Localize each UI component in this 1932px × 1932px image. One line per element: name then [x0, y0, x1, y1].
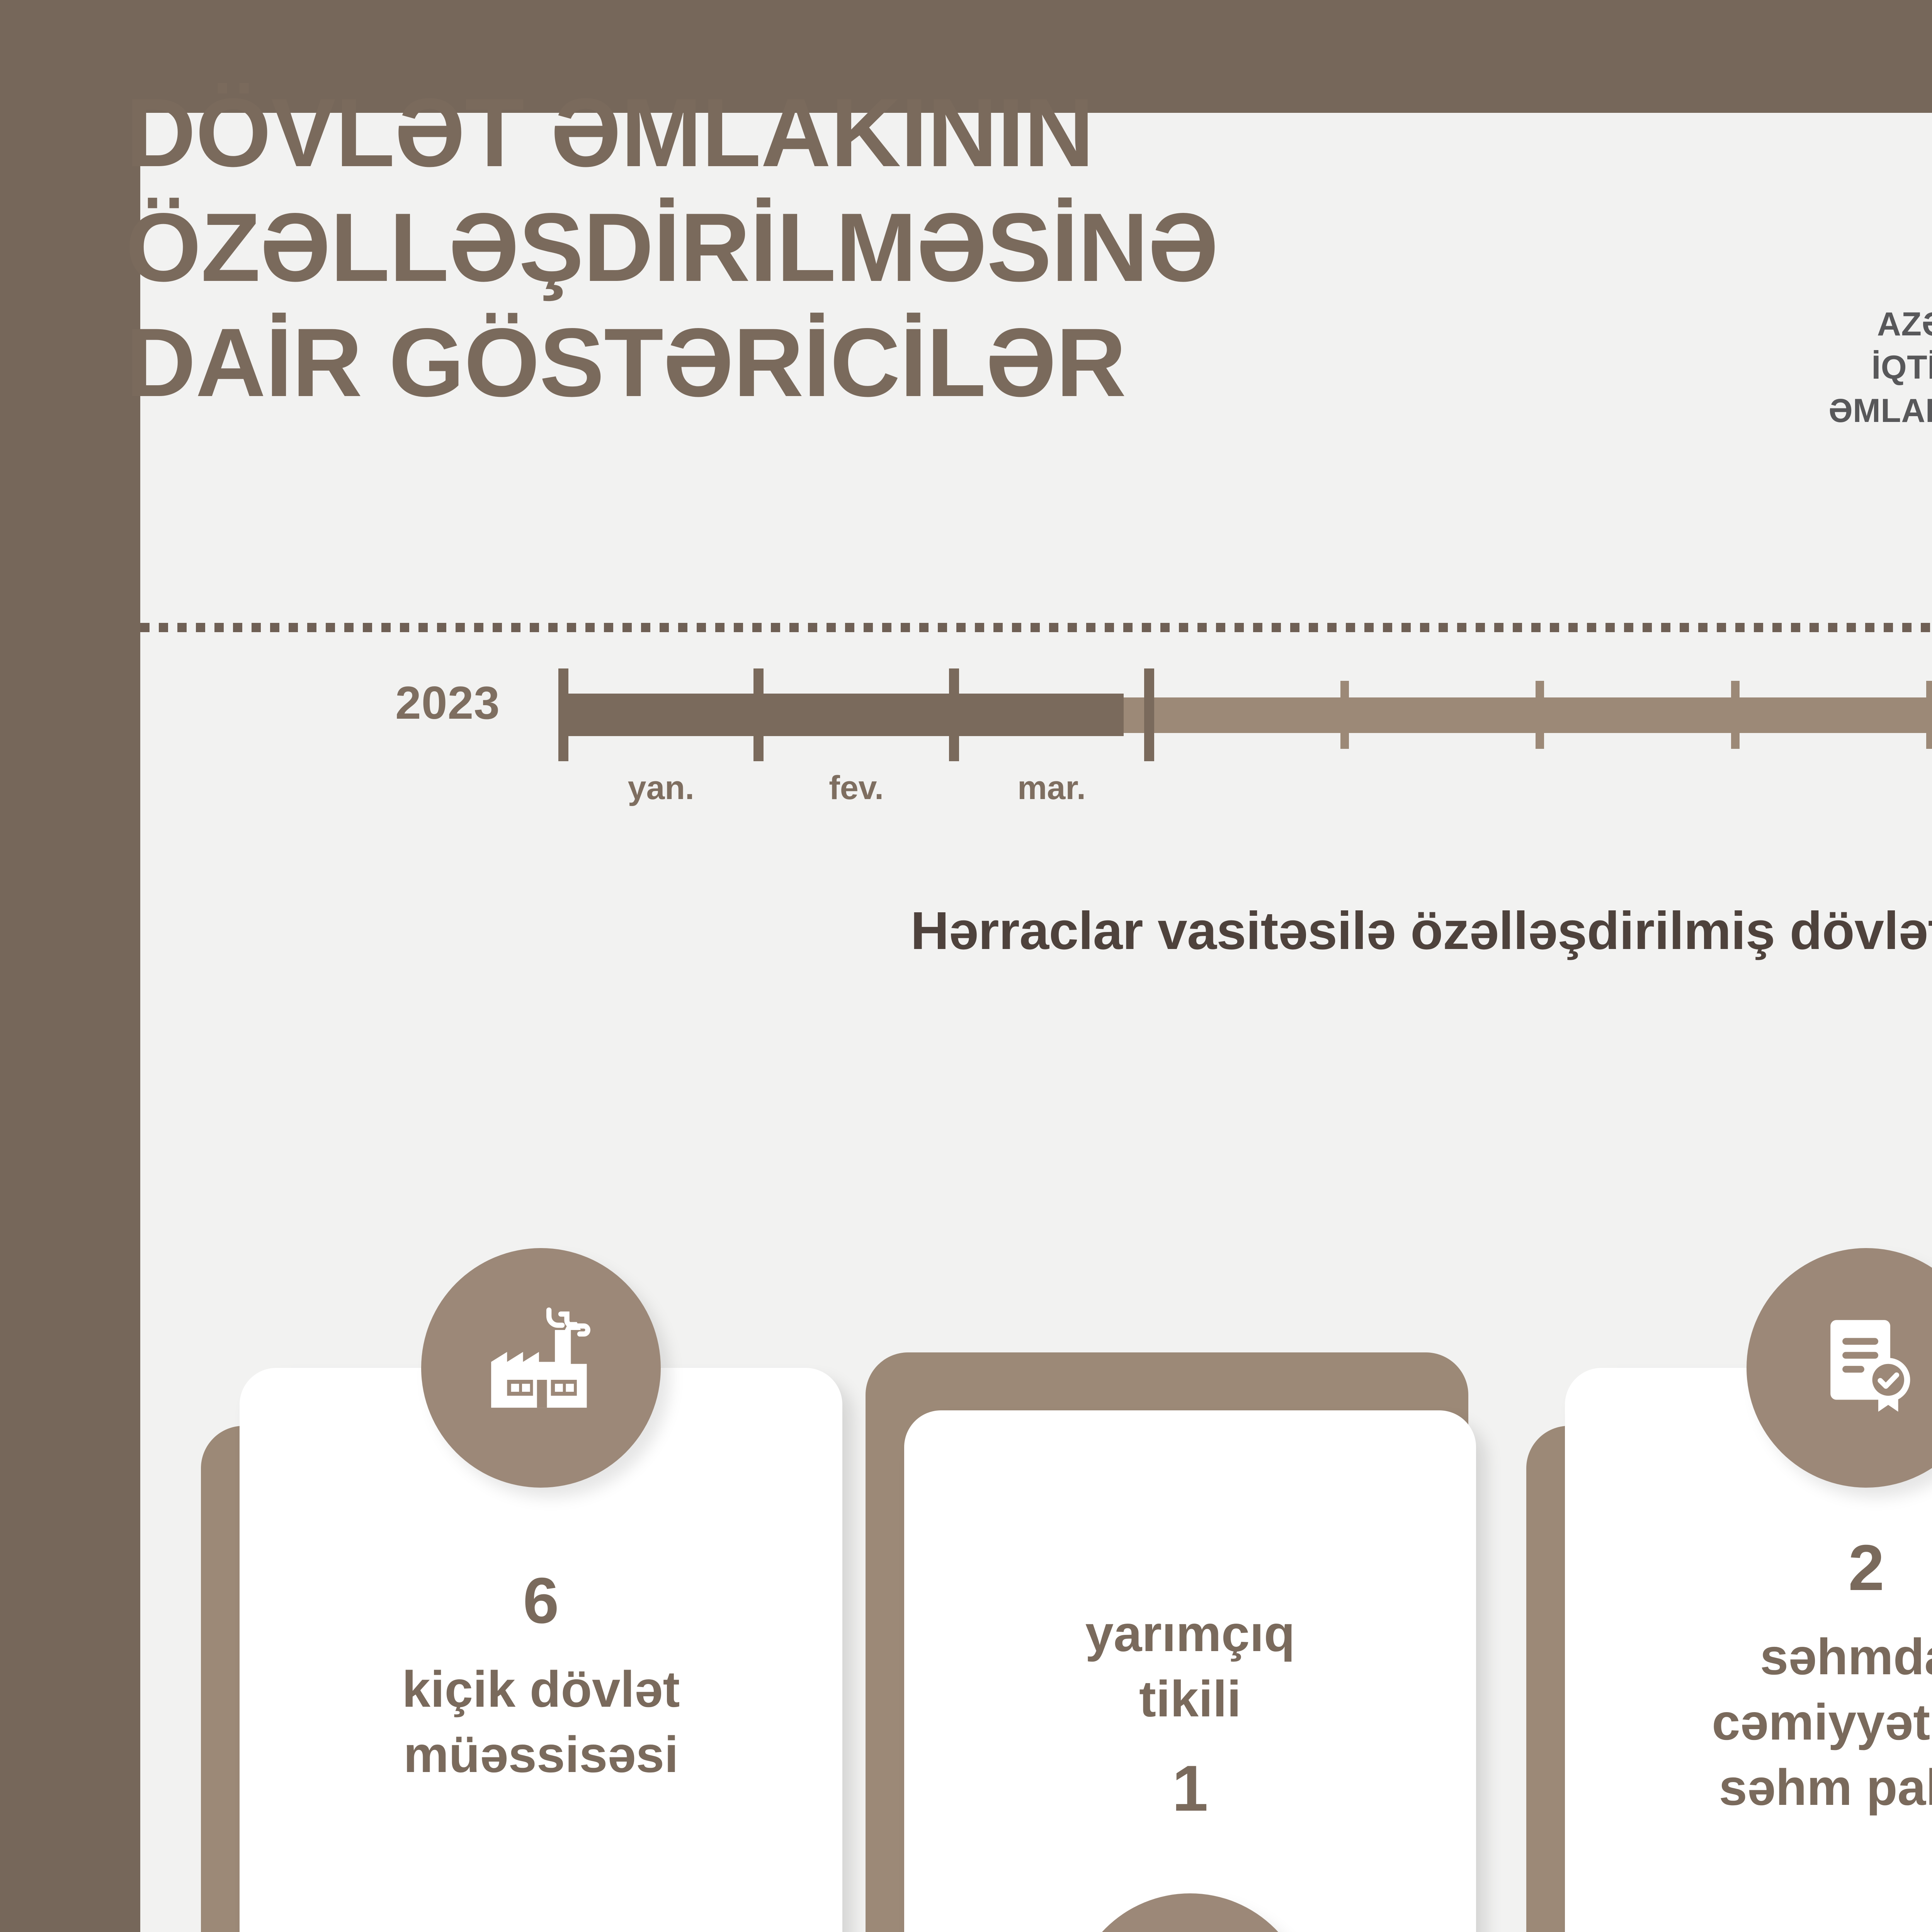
stat-card-value: 2 — [1848, 1534, 1884, 1602]
stat-card-value: 1 — [1172, 1754, 1208, 1822]
stat-card-label: səhmdar cəmiyyətinin səhm paketi — [1712, 1624, 1932, 1820]
infographic-root: DÖVLƏT ƏMLAKININ ÖZƏLLƏŞDİRİLMƏSİNƏ DAİR… — [0, 0, 1932, 1932]
stat-card-front[interactable]: yarımçıq tikili1 — [904, 1410, 1476, 1932]
stat-card-value: 6 — [523, 1566, 559, 1634]
stat-card-label: yarımçıq tikili — [1085, 1601, 1295, 1732]
certificate-icon — [1803, 1304, 1930, 1432]
stat-card-icon-badge — [421, 1248, 661, 1488]
factory-icon — [477, 1304, 605, 1432]
stat-card-label: kiçik dövlət müəssisəsi — [402, 1657, 680, 1787]
stat-card-row: 6kiçik dövlət müəssisəsiyarımçıq tikili1… — [0, 0, 1932, 1932]
